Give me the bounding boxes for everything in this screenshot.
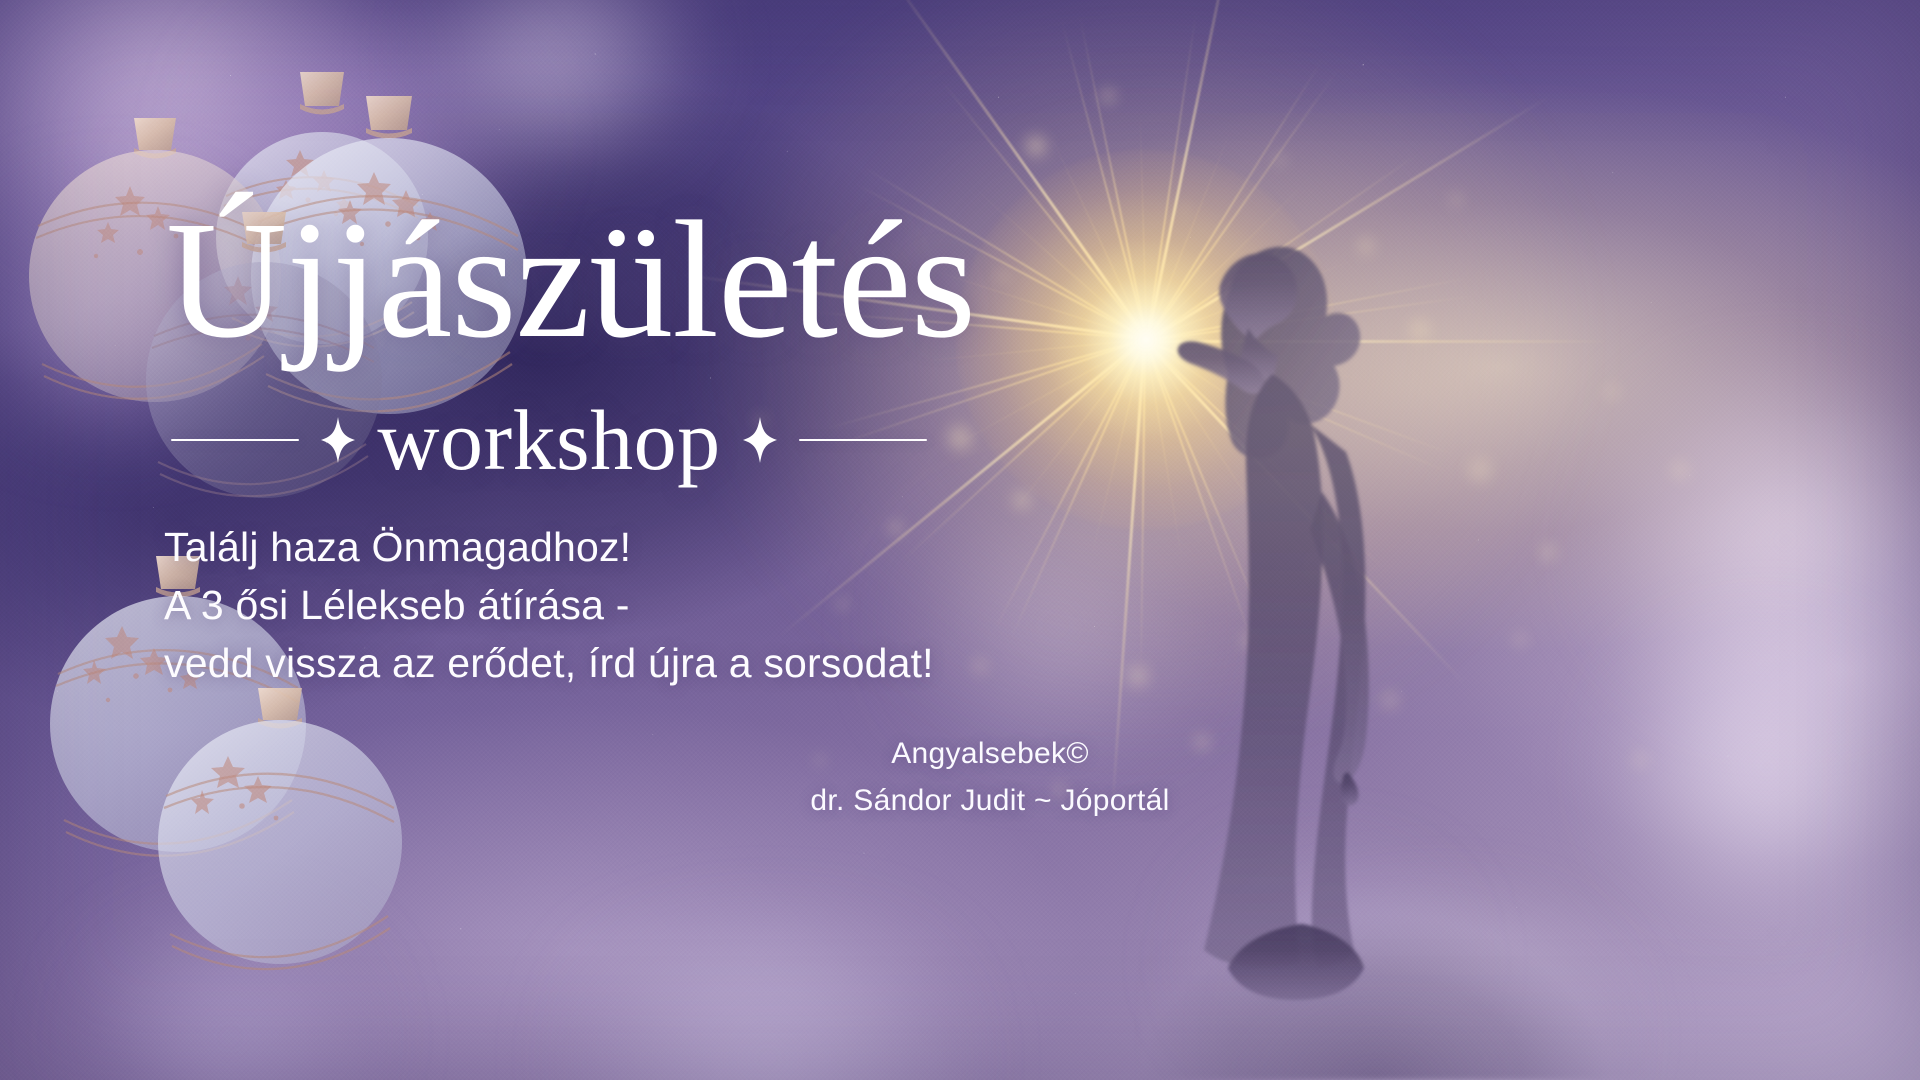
text-content: Újjászületés workshop Találj haza Önmaga… [0, 0, 1920, 1080]
workshop-divider-row: workshop [160, 392, 938, 488]
author-label: dr. Sándor Judit ~ Jóportál [520, 777, 1460, 824]
body-line: Találj haza Önmagadhoz! [164, 518, 934, 576]
body-copy: Találj haza Önmagadhoz! A 3 ősi Lélekseb… [164, 518, 934, 692]
sparkle-right-icon [743, 417, 777, 463]
body-line: A 3 ősi Lélekseb átírása - [164, 576, 934, 634]
brand-label: Angyalsebek© [520, 730, 1460, 777]
rule-right-icon [799, 439, 927, 442]
rule-left-icon [171, 439, 299, 442]
workshop-label: workshop [377, 397, 720, 483]
body-line: vedd vissza az erődet, írd újra a sorsod… [164, 634, 934, 692]
credit-block: Angyalsebek© dr. Sándor Judit ~ Jóportál [520, 730, 1460, 824]
page-title: Újjászületés [166, 196, 975, 364]
poster-canvas: Újjászületés workshop Találj haza Önmaga… [0, 0, 1920, 1080]
sparkle-left-icon [321, 417, 355, 463]
